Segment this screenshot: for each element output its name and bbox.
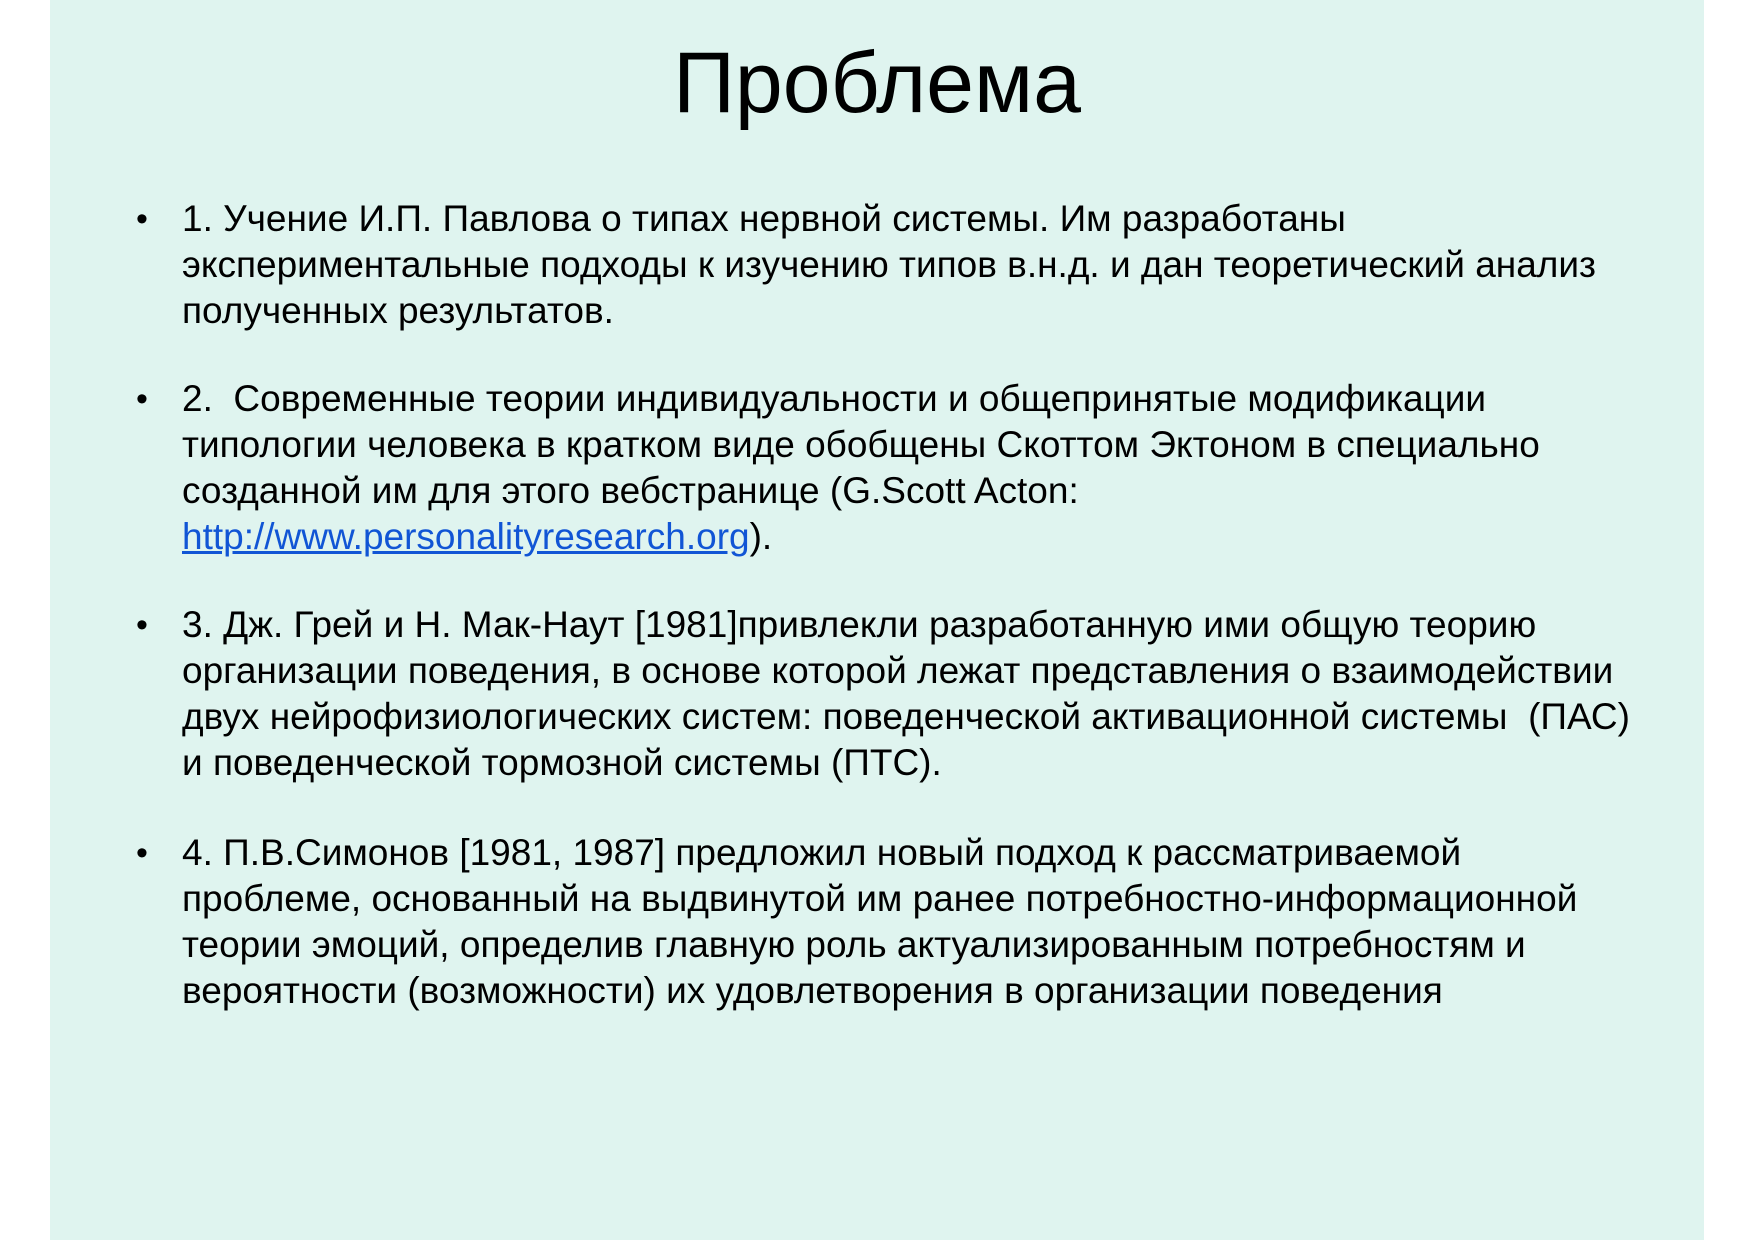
bullet-marker-icon: • <box>128 830 182 876</box>
list-item: • 3. Дж. Грей и Н. Мак-Наут [1981]привле… <box>128 602 1648 786</box>
list-item: • 4. П.В.Симонов [1981, 1987] предложил … <box>128 830 1648 1014</box>
bullet-text-3: 3. Дж. Грей и Н. Мак-Наут [1981]привлекл… <box>182 602 1648 786</box>
list-item: • 1. Учение И.П. Павлова о типах нервной… <box>128 196 1648 334</box>
personalityresearch-link[interactable]: http://www.personalityresearch.org <box>182 516 750 557</box>
page-title: Проблема <box>50 38 1704 128</box>
bullet-2-text-before-link: 2. Современные теории индивидуальности и… <box>182 378 1550 511</box>
bullet-marker-icon: • <box>128 196 182 242</box>
bullet-text-1: 1. Учение И.П. Павлова о типах нервной с… <box>182 196 1648 334</box>
bullet-marker-icon: • <box>128 376 182 422</box>
bullet-text-4: 4. П.В.Симонов [1981, 1987] предложил но… <box>182 830 1648 1014</box>
list-item: • 2. Современные теории индивидуальности… <box>128 376 1648 560</box>
bullet-2-text-after-link: ). <box>750 516 773 557</box>
bullet-list: • 1. Учение И.П. Павлова о типах нервной… <box>128 196 1648 1050</box>
bullet-marker-icon: • <box>128 602 182 648</box>
bullet-text-2: 2. Современные теории индивидуальности и… <box>182 376 1648 560</box>
slide-canvas: Проблема • 1. Учение И.П. Павлова о типа… <box>50 0 1704 1240</box>
